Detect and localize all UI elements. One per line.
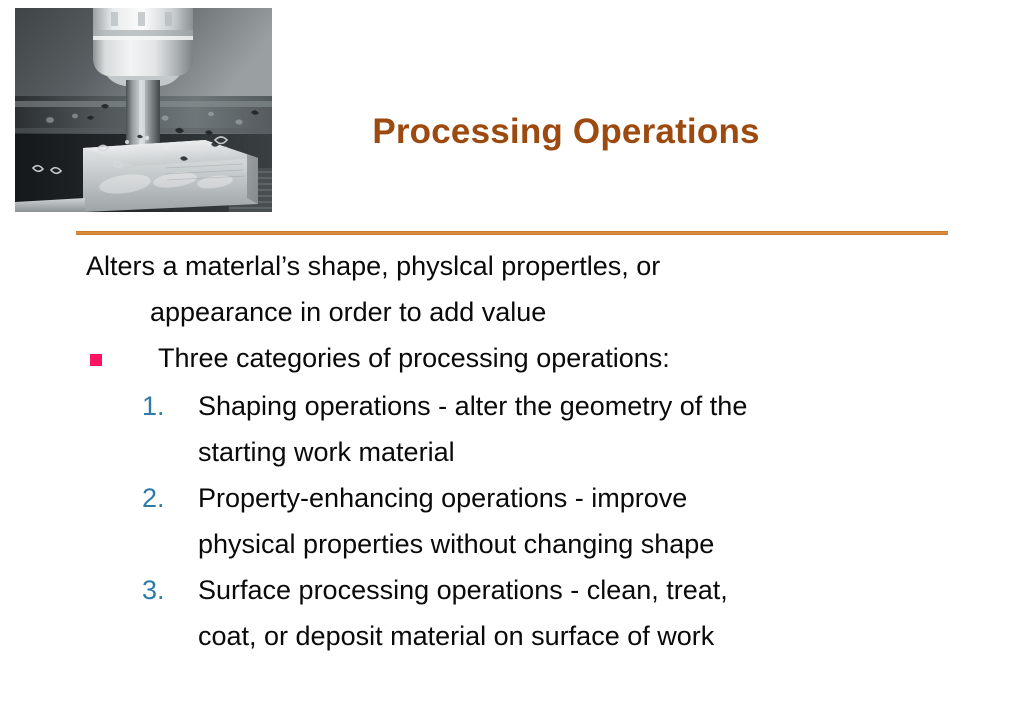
numbered-item-1: 1. Shaping operations - alter the geomet… xyxy=(0,383,1024,475)
item-number-1: 1. xyxy=(142,383,188,429)
numbered-item-3: 3. Surface processing operations - clean… xyxy=(0,567,1024,659)
lead-line-1: Alters a materlal’s shape, physlcal prop… xyxy=(86,251,660,281)
item-2-line-1: Property-enhancing operations - improve xyxy=(198,483,687,513)
lead-paragraph: Alters a materlal’s shape, physlcal prop… xyxy=(0,243,1024,335)
item-1-line-2: starting work material xyxy=(198,429,1024,475)
square-bullet-icon xyxy=(90,354,102,366)
item-number-2: 2. xyxy=(142,475,188,521)
item-3-line-1: Surface processing operations - clean, t… xyxy=(198,575,728,605)
item-text-1: Shaping operations - alter the geometry … xyxy=(198,383,1024,475)
item-number-3: 3. xyxy=(142,567,188,613)
slide-canvas: Processing Operations Alters a materlal’… xyxy=(0,0,1024,724)
bullet-label: Three categories of processing operation… xyxy=(158,343,670,373)
page-title: Processing Operations xyxy=(286,112,846,152)
item-text-2: Property-enhancing operations - improve … xyxy=(198,475,1024,567)
slide-body: Alters a materlal’s shape, physlcal prop… xyxy=(0,243,1024,659)
bullet-list-item: Three categories of processing operation… xyxy=(0,335,1024,381)
cnc-milling-machine-photo xyxy=(15,8,272,212)
item-2-line-2: physical properties without changing sha… xyxy=(198,521,1024,567)
cnc-milling-illustration xyxy=(15,8,272,212)
item-text-3: Surface processing operations - clean, t… xyxy=(198,567,1024,659)
numbered-item-2: 2. Property-enhancing operations - impro… xyxy=(0,475,1024,567)
title-divider-rule xyxy=(76,231,948,235)
item-1-line-1: Shaping operations - alter the geometry … xyxy=(198,391,747,421)
lead-line-2: appearance in order to add value xyxy=(86,289,1024,335)
item-3-line-2: coat, or deposit material on surface of … xyxy=(198,613,1024,659)
